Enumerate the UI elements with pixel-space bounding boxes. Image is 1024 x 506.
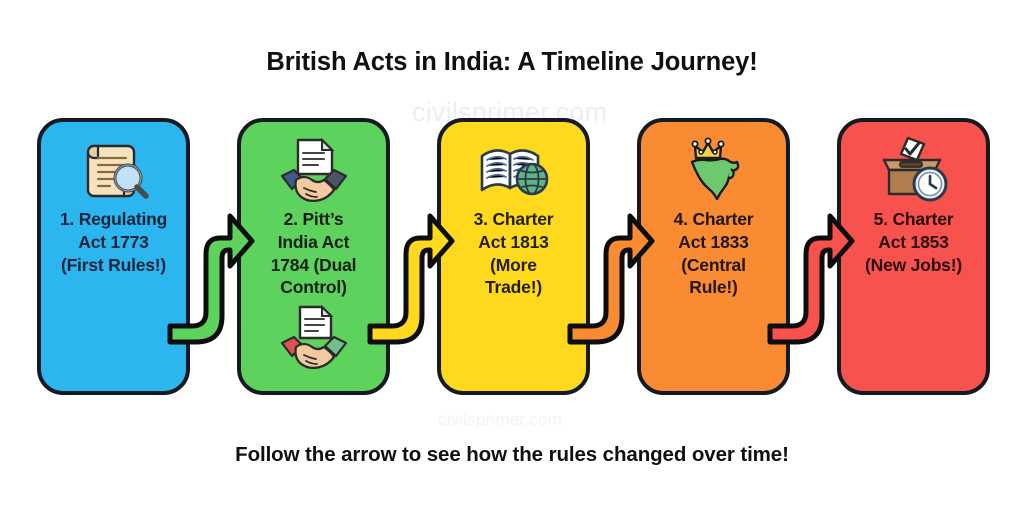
infographic-canvas: civilsprimer.com civilsprimer.com Britis…: [0, 0, 1024, 506]
timeline-card-5-label: 5. Charter Act 1853 (New Jobs!): [841, 208, 986, 276]
handshake-icon: [274, 305, 354, 373]
timeline-card-5[interactable]: 5. Charter Act 1853 (New Jobs!): [837, 118, 990, 395]
arrow-3-to-4: [568, 176, 654, 334]
document-handshake-icon: [274, 136, 354, 204]
timeline-card-3-label: 3. Charter Act 1813 (More Trade!): [441, 208, 586, 299]
page-title: British Acts in India: A Timeline Journe…: [0, 48, 1024, 77]
ballot-box-clock-icon: [874, 136, 954, 204]
crowned-india-map-icon: [674, 136, 754, 204]
timeline-card-2-label: 2. Pitt’s India Act 1784 (Dual Control): [241, 208, 386, 299]
scroll-magnifier-icon: [74, 136, 154, 204]
arrow-2-to-3: [368, 176, 454, 334]
arrow-4-to-5: [768, 176, 854, 334]
timeline-card-4-label: 4. Charter Act 1833 (Central Rule!): [641, 208, 786, 299]
page-caption: Follow the arrow to see how the rules ch…: [0, 443, 1024, 467]
book-globe-icon: [474, 136, 554, 204]
arrow-1-to-2: [168, 176, 254, 334]
timeline-card-1-label: 1. Regulating Act 1773 (First Rules!): [41, 208, 186, 276]
watermark-bottom: civilsprimer.com: [438, 410, 562, 430]
